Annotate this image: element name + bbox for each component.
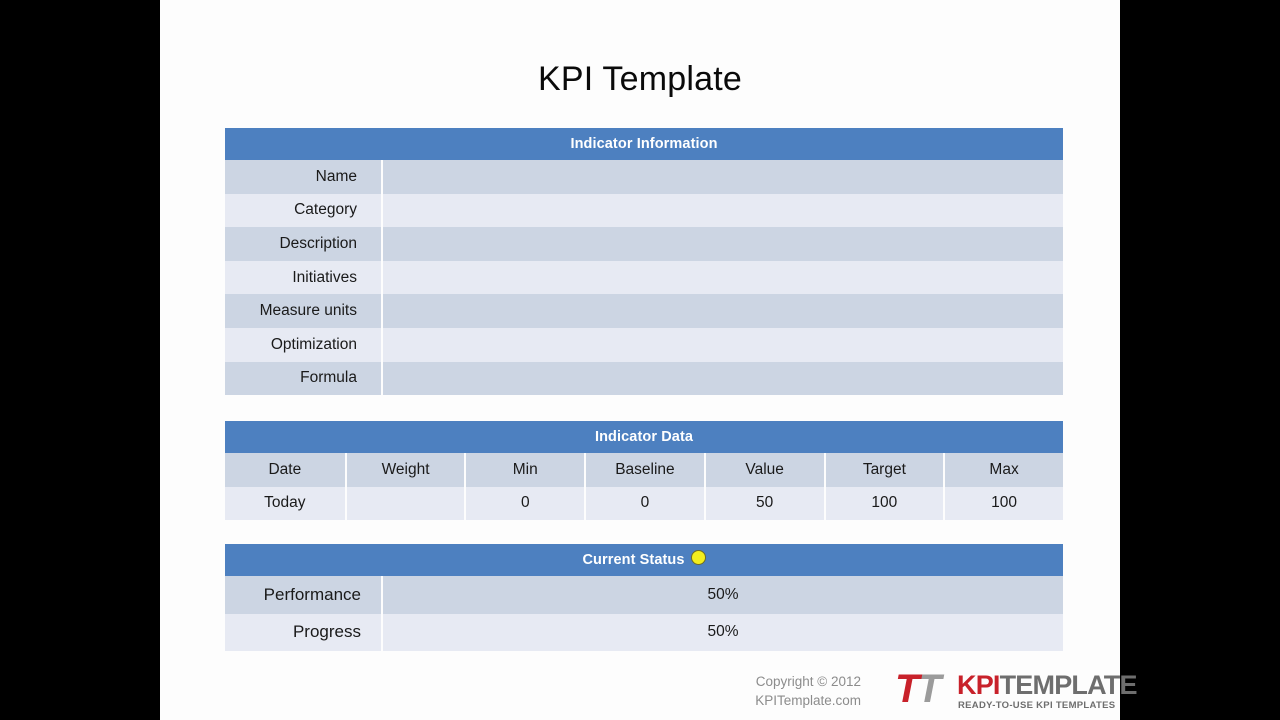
row-label-category: Category bbox=[225, 194, 381, 228]
yellow-status-dot-icon bbox=[691, 550, 706, 565]
table-row[interactable]: Category bbox=[225, 194, 1063, 228]
current-status-header: Current Status bbox=[225, 544, 1063, 576]
slide-canvas: KPI Template Indicator Information Name … bbox=[160, 0, 1120, 720]
table-row[interactable]: Initiatives bbox=[225, 261, 1063, 295]
cell-weight[interactable] bbox=[345, 487, 465, 521]
column-header-min: Min bbox=[464, 453, 584, 487]
cell-date[interactable]: Today bbox=[225, 487, 345, 521]
row-value-progress[interactable]: 50% bbox=[381, 614, 1063, 652]
indicator-information-header: Indicator Information bbox=[225, 128, 1063, 160]
cell-baseline[interactable]: 0 bbox=[584, 487, 704, 521]
cell-target[interactable]: 100 bbox=[824, 487, 944, 521]
column-header-weight: Weight bbox=[345, 453, 465, 487]
logo-word-template: TEMPLATE bbox=[1000, 670, 1137, 700]
table-header-row: Date Weight Min Baseline Value Target Ma… bbox=[225, 453, 1063, 487]
copyright-line-2: KPITemplate.com bbox=[755, 691, 861, 710]
kpitemplate-logo[interactable]: T T KPITEMPLATE READY-TO-USE KPI TEMPLAT… bbox=[895, 668, 1100, 716]
table-row[interactable]: Name bbox=[225, 160, 1063, 194]
logo-tagline: READY-TO-USE KPI TEMPLATES bbox=[958, 700, 1115, 711]
row-label-measure-units: Measure units bbox=[225, 294, 381, 328]
cell-min[interactable]: 0 bbox=[464, 487, 584, 521]
column-header-date: Date bbox=[225, 453, 345, 487]
cell-value[interactable]: 50 bbox=[704, 487, 824, 521]
logo-word-kpi: KPI bbox=[957, 670, 1000, 700]
row-label-optimization: Optimization bbox=[225, 328, 381, 362]
copyright-text: Copyright © 2012 KPITemplate.com bbox=[755, 672, 861, 710]
table-row[interactable]: Performance 50% bbox=[225, 576, 1063, 614]
indicator-information-table: Indicator Information Name Category Desc… bbox=[225, 128, 1063, 395]
copyright-line-1: Copyright © 2012 bbox=[755, 672, 861, 691]
table-row[interactable]: Description bbox=[225, 227, 1063, 261]
row-value-description[interactable] bbox=[381, 227, 1063, 261]
row-value-optimization[interactable] bbox=[381, 328, 1063, 362]
double-t-logo-icon: T T bbox=[895, 671, 957, 707]
row-label-formula: Formula bbox=[225, 362, 381, 396]
table-row[interactable]: Today 0 0 50 100 100 bbox=[225, 487, 1063, 521]
row-value-name[interactable] bbox=[381, 160, 1063, 194]
column-header-baseline: Baseline bbox=[584, 453, 704, 487]
column-header-value: Value bbox=[704, 453, 824, 487]
current-status-table: Current Status Performance 50% Progress … bbox=[225, 544, 1063, 651]
row-value-measure-units[interactable] bbox=[381, 294, 1063, 328]
row-label-initiatives: Initiatives bbox=[225, 261, 381, 295]
indicator-data-header: Indicator Data bbox=[225, 421, 1063, 453]
presentation-stage: KPI Template Indicator Information Name … bbox=[0, 0, 1280, 720]
row-value-category[interactable] bbox=[381, 194, 1063, 228]
logo-letter-red: T bbox=[895, 670, 919, 708]
row-value-performance[interactable]: 50% bbox=[381, 576, 1063, 614]
logo-letter-gray: T bbox=[917, 670, 941, 708]
indicator-data-table: Indicator Data Date Weight Min Baseline … bbox=[225, 421, 1063, 520]
current-status-header-label: Current Status bbox=[582, 552, 684, 568]
slide-footer: Copyright © 2012 KPITemplate.com T T KPI… bbox=[160, 668, 1120, 720]
table-row[interactable]: Progress 50% bbox=[225, 614, 1063, 652]
row-label-performance: Performance bbox=[225, 576, 381, 614]
table-row[interactable]: Formula bbox=[225, 362, 1063, 396]
row-label-progress: Progress bbox=[225, 614, 381, 652]
row-label-description: Description bbox=[225, 227, 381, 261]
page-title: KPI Template bbox=[160, 58, 1120, 100]
table-row[interactable]: Measure units bbox=[225, 294, 1063, 328]
logo-wordmark: KPITEMPLATE bbox=[957, 670, 1137, 700]
table-row[interactable]: Optimization bbox=[225, 328, 1063, 362]
row-value-formula[interactable] bbox=[381, 362, 1063, 396]
column-header-target: Target bbox=[824, 453, 944, 487]
row-value-initiatives[interactable] bbox=[381, 261, 1063, 295]
row-label-name: Name bbox=[225, 160, 381, 194]
column-header-max: Max bbox=[943, 453, 1063, 487]
cell-max[interactable]: 100 bbox=[943, 487, 1063, 521]
